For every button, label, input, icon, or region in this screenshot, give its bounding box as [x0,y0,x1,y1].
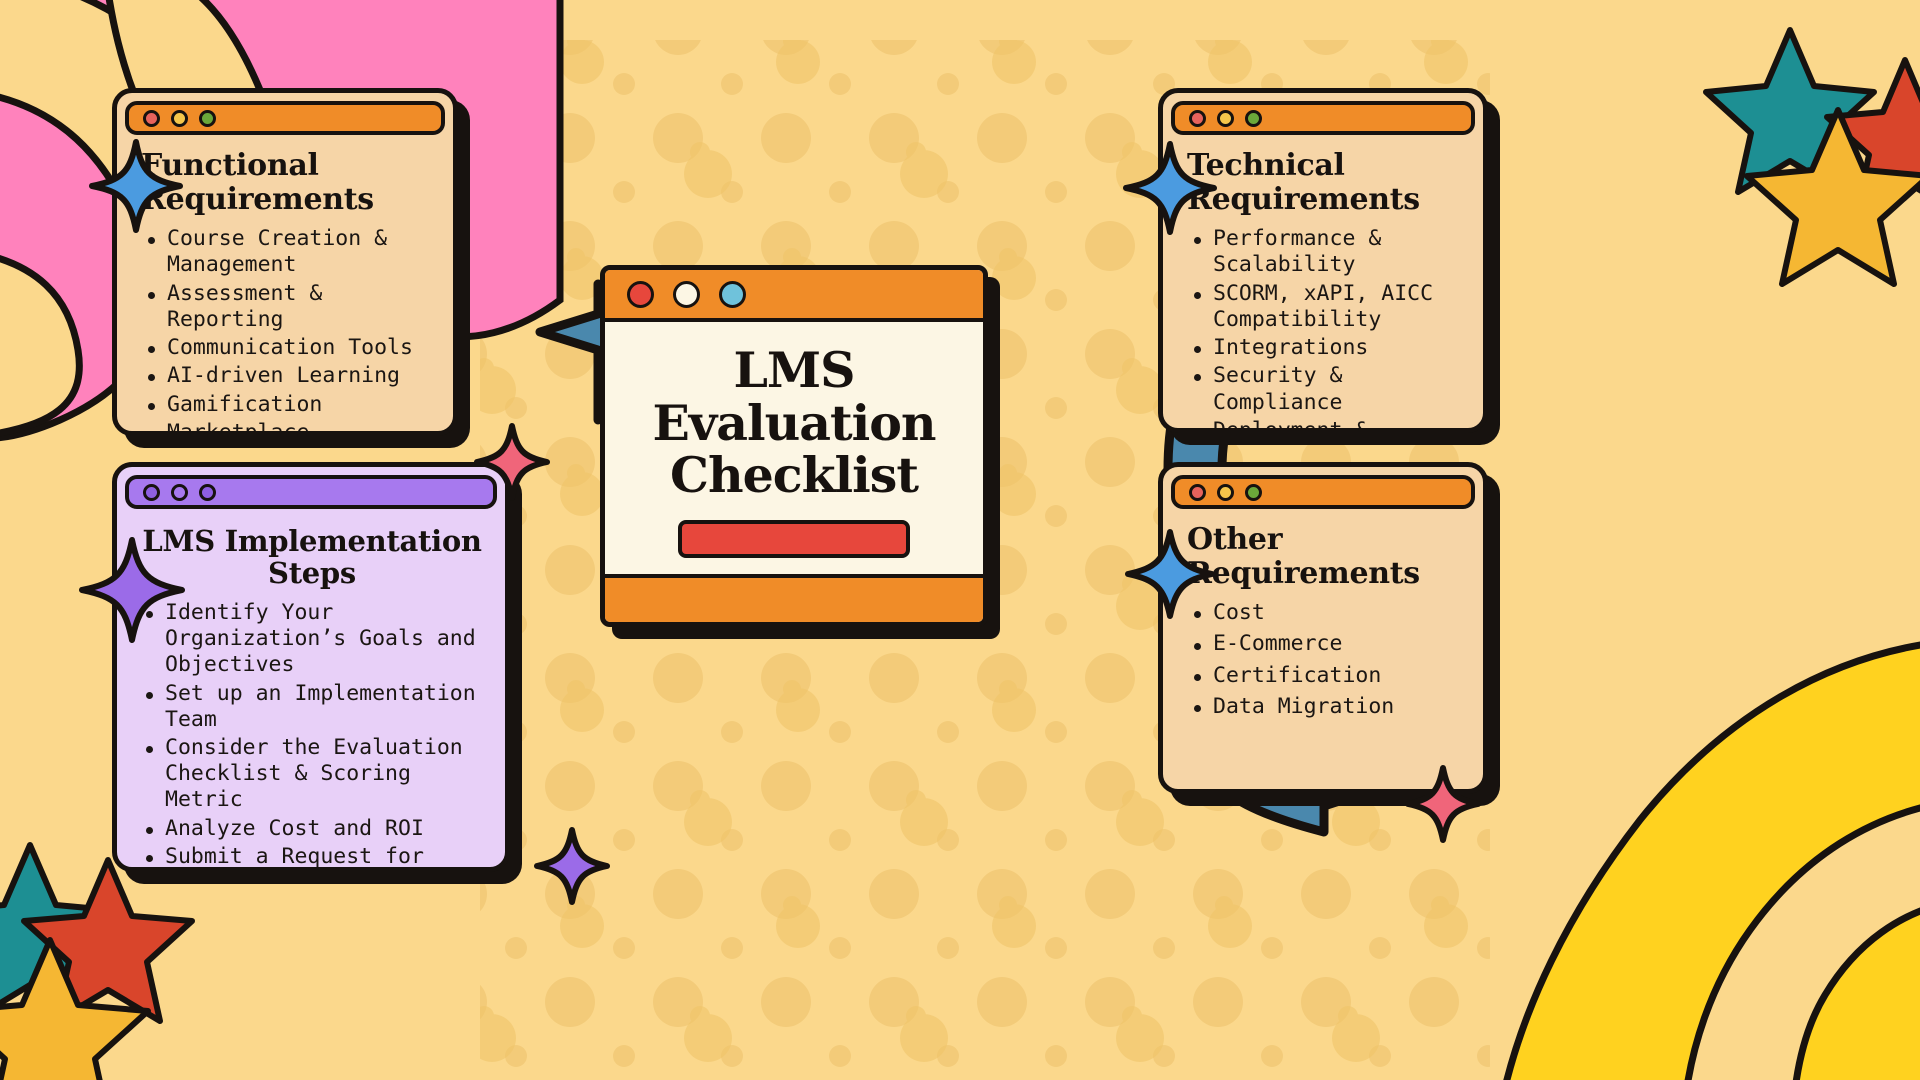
list-item: Certification [1213,663,1461,689]
center-title-line3: Checklist [670,446,918,504]
maximize-dot[interactable] [199,484,216,501]
card-lms-implementation-steps[interactable]: LMS Implementation Steps Identify Your O… [112,462,510,872]
minimize-dot[interactable] [1217,484,1234,501]
list-item: Deployment & Hosting [1213,418,1461,433]
list-item: Performance & Scalability [1213,226,1461,278]
page-title: LMS Evaluation Checklist [652,344,935,501]
card-other-requirements[interactable]: Other Requirements Cost E-Commerce Certi… [1158,462,1488,794]
list-item: Integrations [1213,335,1461,361]
minimize-dot[interactable] [171,110,188,127]
other-titlebar [1171,475,1475,509]
list-item: Data Migration [1213,694,1461,720]
steps-titlebar [125,475,497,509]
card-lms-evaluation-checklist[interactable]: LMS Evaluation Checklist [600,265,988,627]
arrow-to-steps [540,640,754,826]
technical-title: Technical Requirements [1187,149,1461,216]
close-dot[interactable] [143,110,160,127]
center-main-content: LMS Evaluation Checklist [605,322,983,574]
infographic-canvas: Functional Requirements Course Creation … [0,0,1920,1080]
list-item: Marketplace [167,420,431,436]
close-dot[interactable] [143,484,160,501]
center-title-line2: Evaluation [652,394,935,452]
functional-title-line2: Requirements [141,182,374,217]
other-title-line2: Requirements [1187,556,1420,591]
minimize-dot[interactable] [1217,110,1234,127]
card-functional-requirements[interactable]: Functional Requirements Course Creation … [112,88,458,436]
functional-body: Functional Requirements Course Creation … [117,135,453,436]
other-list: Cost E-Commerce Certification Data Migra… [1187,600,1461,720]
other-title-line1: Other [1187,522,1282,557]
list-item: Analyze Cost and ROI [165,816,485,842]
steps-title: LMS Implementation Steps [139,525,485,590]
maximize-dot[interactable] [199,110,216,127]
maximize-dot[interactable] [1245,110,1262,127]
technical-body: Technical Requirements Performance & Sca… [1163,135,1483,433]
technical-title-line2: Requirements [1187,182,1420,217]
list-item: Cost [1213,600,1461,626]
center-titlebar [605,270,983,322]
list-item: Assessment & Reporting [167,281,431,333]
list-item: Course Creation & Management [167,226,431,278]
cta-button[interactable] [678,520,910,558]
minimize-dot[interactable] [673,281,700,308]
close-dot[interactable] [627,281,654,308]
center-title-line1: LMS [733,341,854,399]
list-item: Submit a Request for Proposal [165,844,485,872]
technical-title-line1: Technical [1187,148,1345,183]
list-item: E-Commerce [1213,631,1461,657]
list-item: Consider the Evaluation Checklist & Scor… [165,735,485,814]
steps-body: LMS Implementation Steps Identify Your O… [117,509,505,872]
minimize-dot[interactable] [171,484,188,501]
list-item: Communication Tools [167,335,431,361]
list-item: Security & Compliance [1213,363,1461,415]
functional-list: Course Creation & Management Assessment … [141,226,431,436]
steps-title-line1: LMS Implementation [142,524,481,558]
functional-title-line1: Functional [141,148,319,183]
list-item: Identify Your Organization’s Goals and O… [165,600,485,679]
steps-list: Identify Your Organization’s Goals and O… [139,600,485,872]
maximize-dot[interactable] [1245,484,1262,501]
close-dot[interactable] [1189,110,1206,127]
list-item: SCORM, xAPI, AICC Compatibility [1213,281,1461,333]
maximize-dot[interactable] [719,281,746,308]
other-body: Other Requirements Cost E-Commerce Certi… [1163,509,1483,789]
functional-title: Functional Requirements [141,149,431,216]
center-footer-bar [605,574,983,622]
technical-list: Performance & Scalability SCORM, xAPI, A… [1187,226,1461,433]
technical-titlebar [1171,101,1475,135]
close-dot[interactable] [1189,484,1206,501]
list-item: Gamification [167,392,431,418]
list-item: AI-driven Learning [167,363,431,389]
other-title: Other Requirements [1187,523,1461,590]
card-technical-requirements[interactable]: Technical Requirements Performance & Sca… [1158,88,1488,433]
functional-titlebar [125,101,445,135]
list-item: Set up an Implementation Team [165,681,485,733]
steps-title-line2: Steps [268,556,356,590]
